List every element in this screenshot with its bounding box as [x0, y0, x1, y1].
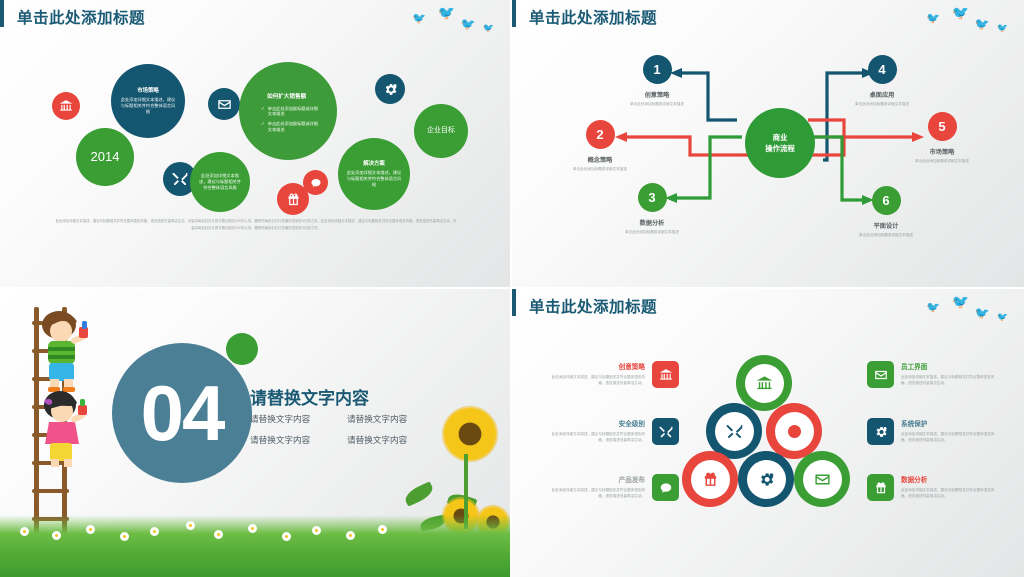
title-accent-bar	[512, 0, 516, 27]
tools-icon	[726, 423, 743, 440]
feature-item-system-protection[interactable]: 系统保护 此处添加详细文本描述，建议与标题相关并符合整体语言风格，语言描述尽量简…	[867, 418, 996, 445]
bank-icon	[756, 375, 773, 392]
ring-inner	[747, 460, 786, 499]
node-number: 6	[872, 186, 901, 215]
bird-icon: 🐦	[975, 17, 991, 30]
mail-icon-bubble[interactable]	[208, 88, 240, 120]
slide-4-title: 单击此处添加标题	[529, 295, 657, 317]
flow-node-4[interactable]: 4 桌面应用 单击此处添加标题或详细文本描述	[822, 55, 942, 108]
ring-bank[interactable]	[736, 355, 792, 411]
check-icon: ✓	[261, 121, 265, 132]
slide-1[interactable]: 单击此处添加标题 🐦 🐦 🐦 🐦 市场策略 此处添加详细文本描述，建议与标题相关…	[0, 0, 512, 289]
daisy	[378, 525, 387, 534]
flow-node-3[interactable]: 3 数据分析 单击此处添加标题或详细文本描述	[592, 183, 712, 236]
ring-inner	[775, 412, 814, 451]
node-number: 4	[868, 55, 897, 84]
daisy	[312, 526, 321, 535]
ring-gear[interactable]	[738, 451, 794, 507]
mail-icon	[874, 368, 888, 382]
mail-icon	[814, 471, 831, 488]
bullet-row: ✓ 单击此处添加副标题或详细文本描述	[261, 121, 322, 132]
chat-icon	[659, 481, 673, 495]
sunflower	[444, 408, 496, 460]
bird-icon: 🐦	[996, 23, 1009, 34]
node-number: 5	[928, 112, 957, 141]
node-label: 创意策略	[645, 90, 670, 99]
gear-icon	[383, 82, 398, 97]
slide-2[interactable]: 单击此处添加标题 🐦 🐦 🐦 🐦	[512, 0, 1024, 289]
flow-node-5[interactable]: 5 市场策略 单击此处添加标题或详细文本描述	[882, 112, 1002, 165]
daisy	[20, 527, 29, 536]
item-body: 此处添加详细文本描述，建议与标题相关并符合整体语言风格，语言描述尽量简洁生动。	[901, 487, 996, 500]
bullet-row: ✓ 单击此处添加副标题或详细文本描述	[261, 106, 322, 117]
bubble-heading: 市场策略	[137, 88, 159, 95]
bird-icon: 🐦	[996, 312, 1009, 323]
ring-gift[interactable]	[682, 451, 738, 507]
list-item: 请替换文字内容	[347, 413, 430, 425]
gift-icon	[702, 471, 719, 488]
bubble-body: 此处添加详细文本描述，建议与标题相关并符合整体语言风格	[197, 173, 243, 190]
bubble-heading: 解决方案	[363, 161, 385, 168]
girl-on-ladder-illustration	[30, 389, 100, 475]
item-heading: 安全级别	[550, 418, 645, 428]
green-accent-dot	[226, 333, 258, 365]
bubble-body: 此处添加详细文本描述，建议与标题相关并符合整体语言风格	[119, 97, 177, 114]
item-body: 此处添加详细文本描述，建议与标题相关并符合整体语言风格，语言描述尽量简洁生动。	[901, 374, 996, 387]
flow-center-circle[interactable]: 商业 操作流程	[745, 108, 815, 178]
birds-decoration: 🐦 🐦 🐦 🐦	[925, 291, 1020, 325]
leaf	[402, 481, 435, 506]
ring-mail[interactable]	[794, 451, 850, 507]
bank-icon	[659, 368, 673, 382]
gift-icon	[286, 192, 301, 207]
feature-item-data-analysis[interactable]: 数据分析 此处添加详细文本描述，建议与标题相关并符合整体语言风格，语言描述尽量简…	[867, 474, 996, 501]
bird-icon: 🐦	[437, 3, 457, 21]
tools-icon	[659, 425, 673, 439]
year-label: 2014	[91, 149, 120, 165]
record-icon	[788, 425, 801, 438]
center-line-2: 操作流程	[765, 143, 795, 154]
daisy	[86, 525, 95, 534]
bird-icon: 🐦	[926, 13, 941, 26]
slide-1-footer-text: 此处添加详细文本描述，建议与标题相关并符合整体语言风格，语言描述尽量简洁生动，尽…	[54, 218, 458, 233]
node-label: 数据分析	[640, 218, 665, 227]
detail-text-bubble[interactable]: 此处添加详细文本描述，建议与标题相关并符合整体语言风格	[190, 152, 250, 212]
node-number: 1	[643, 55, 672, 84]
node-desc: 单击此处添加标题或详细文本描述	[900, 159, 984, 165]
daisy	[214, 530, 223, 539]
node-label: 平面设计	[874, 221, 899, 230]
ring-inner	[803, 460, 842, 499]
tools-icon-tile[interactable]	[652, 418, 679, 445]
item-body: 此处添加详细文本描述，建议与标题相关并符合整体语言风格，语言描述尽量简洁生动。	[550, 431, 645, 444]
node-desc: 单击此处添加标题或详细文本描述	[558, 167, 642, 173]
enterprise-goal-bubble[interactable]: 企业目标	[414, 104, 468, 158]
bank-icon-tile[interactable]	[652, 361, 679, 388]
feature-item-employee-interface[interactable]: 员工界面 此处添加详细文本描述，建议与标题相关并符合整体语言风格，语言描述尽量简…	[867, 361, 996, 388]
center-line-1: 商业	[765, 132, 795, 143]
slide-4[interactable]: 单击此处添加标题 🐦 🐦 🐦 🐦 创意策略 此处添加详细文本描述，建议与标题相关…	[512, 289, 1024, 577]
slide-3-heading: 请替换文字内容	[250, 384, 369, 409]
flow-node-6[interactable]: 6 平面设计 单击此处添加标题或详细文本描述	[826, 186, 946, 239]
gift-icon-tile[interactable]	[867, 474, 894, 501]
feature-item-security-level[interactable]: 安全级别 此处添加详细文本描述，建议与标题相关并符合整体语言风格，语言描述尽量简…	[550, 418, 679, 445]
gear-icon	[758, 471, 775, 488]
ring-inner	[715, 412, 754, 451]
node-label: 桌面应用	[870, 90, 895, 99]
node-desc: 单击此处添加标题或详细文本描述	[615, 102, 699, 108]
ring-record[interactable]	[766, 403, 822, 459]
title-accent-bar	[512, 289, 516, 316]
daisy	[150, 527, 159, 536]
feature-item-product-release[interactable]: 产品发布 此处添加详细文本描述，建议与标题相关并符合整体语言风格，语言描述尽量简…	[550, 474, 679, 501]
item-body: 此处添加详细文本描述，建议与标题相关并符合整体语言风格，语言描述尽量简洁生动。	[550, 487, 645, 500]
daisy	[248, 524, 257, 533]
gear-icon	[874, 425, 888, 439]
slide-thumbnail-grid: 单击此处添加标题 🐦 🐦 🐦 🐦 市场策略 此处添加详细文本描述，建议与标题相关…	[0, 0, 1024, 577]
birds-decoration: 🐦 🐦 🐦 🐦	[925, 2, 1020, 36]
bird-icon: 🐦	[926, 302, 941, 315]
node-number: 3	[638, 183, 667, 212]
chat-icon	[310, 177, 322, 189]
tools-icon	[172, 171, 188, 187]
expand-sales-bubble[interactable]: 如何扩大销售额 ✓ 单击此处添加副标题或详细文本描述 ✓ 单击此处添加副标题或详…	[239, 62, 337, 160]
chat-icon-tile[interactable]	[652, 474, 679, 501]
item-heading: 产品发布	[550, 474, 645, 484]
mail-icon	[217, 97, 232, 112]
bird-icon: 🐦	[412, 13, 427, 26]
title-accent-bar	[0, 0, 4, 27]
item-heading: 创意策略	[550, 361, 645, 371]
bird-icon: 🐦	[951, 292, 971, 310]
node-number: 2	[586, 120, 615, 149]
bullet-text: 单击此处添加副标题或详细文本描述	[268, 121, 322, 132]
gift-icon	[874, 481, 888, 495]
node-label: 概念策略	[588, 155, 613, 164]
solution-bubble[interactable]: 解决方案 此处添加详细文本描述，建议与标题相关并符合整体语言风格	[338, 138, 410, 210]
ladder-rung	[32, 489, 69, 493]
node-desc: 单击此处添加标题或详细文本描述	[840, 102, 924, 108]
daisy	[282, 532, 291, 541]
market-strategy-bubble[interactable]: 市场策略 此处添加详细文本描述，建议与标题相关并符合整体语言风格	[111, 64, 185, 138]
ring-cluster	[682, 355, 862, 520]
item-body: 此处添加详细文本描述，建议与标题相关并符合整体语言风格，语言描述尽量简洁生动。	[901, 431, 996, 444]
flow-node-2[interactable]: 2 概念策略 单击此处添加标题或详细文本描述	[540, 120, 660, 173]
daisy	[346, 531, 355, 540]
daisy	[186, 521, 195, 530]
check-icon: ✓	[261, 106, 265, 117]
flow-node-1[interactable]: 1 创意策略 单击此处添加标题或详细文本描述	[597, 55, 717, 108]
mail-icon-tile[interactable]	[867, 361, 894, 388]
feature-item-creative-strategy[interactable]: 创意策略 此处添加详细文本描述，建议与标题相关并符合整体语言风格，语言描述尽量简…	[550, 361, 679, 388]
birds-decoration: 🐦 🐦 🐦 🐦	[411, 2, 506, 36]
bird-icon: 🐦	[461, 17, 477, 30]
chat-icon-bubble[interactable]	[303, 170, 328, 195]
list-item: 请替换文字内容	[250, 434, 333, 446]
bank-icon	[59, 99, 73, 113]
daisy	[52, 531, 61, 540]
item-heading: 系统保护	[901, 418, 996, 428]
list-item: 请替换文字内容	[250, 413, 333, 425]
bird-icon: 🐦	[975, 306, 991, 319]
slide-number-circle[interactable]: 04	[112, 343, 252, 483]
node-desc: 单击此处添加标题或详细文本描述	[844, 233, 928, 239]
list-item: 请替换文字内容	[347, 434, 430, 446]
daisy	[120, 532, 129, 541]
slide-number: 04	[141, 374, 224, 452]
item-body: 此处添加详细文本描述，建议与标题相关并符合整体语言风格，语言描述尽量简洁生动。	[550, 374, 645, 387]
gear-icon-bubble[interactable]	[375, 74, 405, 104]
bird-icon: 🐦	[482, 23, 495, 34]
bird-icon: 🐦	[951, 3, 971, 21]
gear-icon-tile[interactable]	[867, 418, 894, 445]
node-label: 市场策略	[930, 147, 955, 156]
bank-icon-bubble[interactable]	[52, 92, 80, 120]
year-bubble[interactable]: 2014	[76, 128, 134, 186]
item-heading: 员工界面	[901, 361, 996, 371]
slide-3-item-grid: 请替换文字内容 请替换文字内容 请替换文字内容 请替换文字内容	[250, 413, 430, 446]
bullet-text: 单击此处添加副标题或详细文本描述	[268, 106, 322, 117]
boy-on-ladder-illustration	[26, 309, 100, 401]
ring-inner	[691, 460, 730, 499]
node-desc: 单击此处添加标题或详细文本描述	[610, 230, 694, 236]
slide-1-title: 单击此处添加标题	[17, 6, 145, 28]
slide-2-title: 单击此处添加标题	[529, 6, 657, 28]
item-heading: 数据分析	[901, 474, 996, 484]
ring-inner	[745, 364, 784, 403]
bubble-body: 此处添加详细文本描述，建议与标题相关并符合整体语言风格	[346, 170, 402, 187]
slide-3[interactable]: 04 请替换文字内容 请替换文字内容 请替换文字内容 请替换文字内容 请替换文字…	[0, 289, 512, 577]
bubble-heading: 企业目标	[427, 127, 455, 136]
bubble-heading: 如何扩大销售额	[267, 94, 306, 101]
